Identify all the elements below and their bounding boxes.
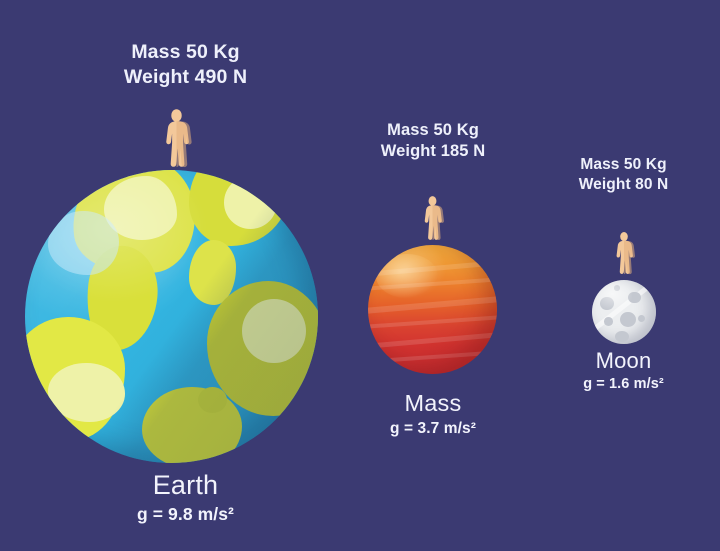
mars-gravity: g = 3.7 m/s² [357,420,509,438]
moon-body [592,280,656,344]
standing-person-icon [160,108,193,168]
earth-name: Earth [43,470,328,501]
earth-cloud [48,211,118,275]
moon-measurements: Mass 50 Kg Weight 80 N [552,155,695,195]
mars-label: Mass g = 3.7 m/s² [357,390,509,438]
infographic-canvas: Mass 50 Kg Weight 490 N Ea [0,0,720,551]
mars-weight-text: Weight 185 N [357,141,509,162]
standing-person-icon [420,190,445,246]
earth-planet [25,170,318,463]
earth-measurements: Mass 50 Kg Weight 490 N [43,40,328,90]
mars-planet [368,245,497,374]
moon-mass-text: Mass 50 Kg [552,155,695,175]
moon-name: Moon [552,348,695,374]
earth-landmass-highlight [224,176,277,229]
mars-terminator-shadow [368,245,497,374]
standing-person-icon [612,225,636,281]
mars-mass-text: Mass 50 Kg [357,120,509,141]
mars-name: Mass [357,390,509,417]
earth-label: Earth g = 9.8 m/s² [43,470,328,525]
earth-weight-text: Weight 490 N [43,65,328,90]
mars-measurements: Mass 50 Kg Weight 185 N [357,120,509,162]
moon-weight-text: Weight 80 N [552,175,695,195]
earth-mass-text: Mass 50 Kg [43,40,328,65]
earth-gravity: g = 9.8 m/s² [43,504,328,525]
moon-label: Moon g = 1.6 m/s² [552,348,695,392]
earth-landmass [198,387,227,413]
moon-gravity: g = 1.6 m/s² [552,376,695,392]
moon-specular-highlight [592,280,656,344]
earth-landmass-highlight [48,363,124,422]
